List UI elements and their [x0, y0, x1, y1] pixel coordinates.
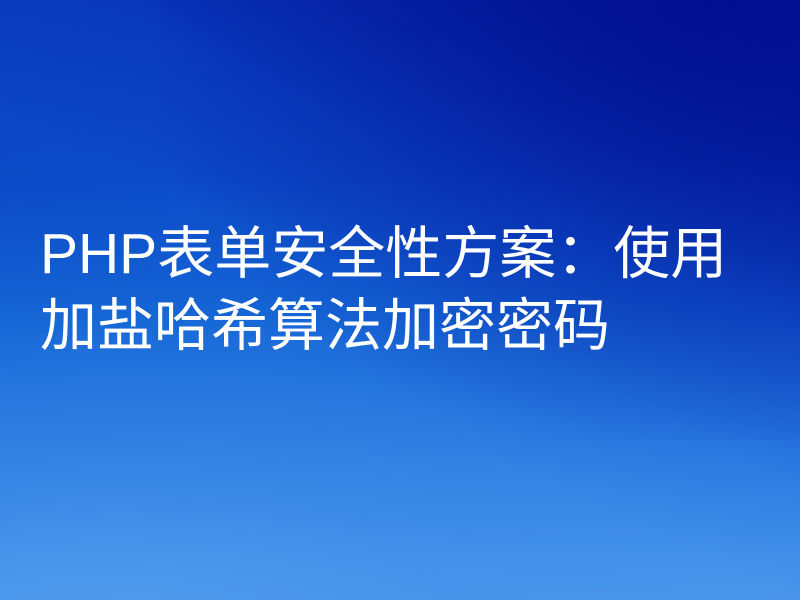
title-banner: PHP表单安全性方案：使用加盐哈希算法加密密码 [0, 0, 800, 600]
headline-block: PHP表单安全性方案：使用加盐哈希算法加密密码 [40, 218, 770, 362]
banner-headline: PHP表单安全性方案：使用加盐哈希算法加密密码 [40, 218, 770, 362]
